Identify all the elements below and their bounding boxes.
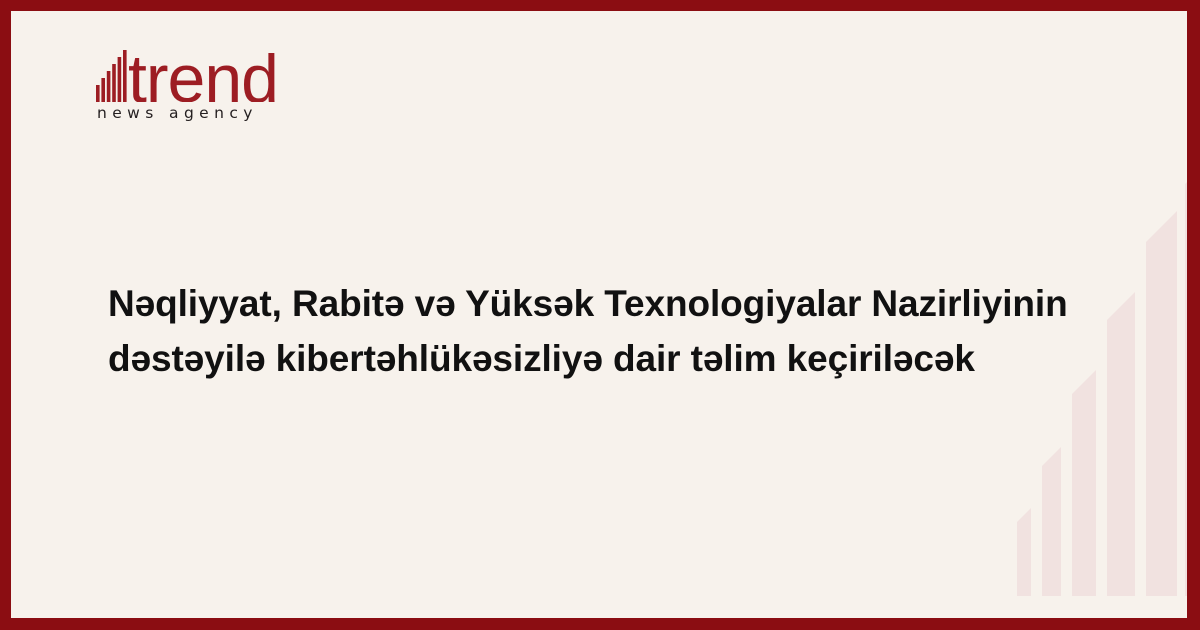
- headline-line-1: Nəqliyyat, Rabitə və Yüksək Texnologiyal…: [108, 277, 1108, 332]
- site-logo[interactable]: trend news agency: [95, 40, 395, 140]
- logo-mark-row: trend: [95, 40, 395, 102]
- bar-ramp-icon: trend: [95, 40, 285, 102]
- social-share-card: trend news agency Nəqliyyat, Rabitə və Y…: [0, 0, 1200, 630]
- logo-tagline: news agency: [97, 104, 395, 122]
- headline: Nəqliyyat, Rabitə və Yüksək Texnologiyal…: [108, 277, 1108, 387]
- card-canvas: trend news agency Nəqliyyat, Rabitə və Y…: [11, 11, 1187, 618]
- headline-line-2: dəstəyilə kibertəhlükəsizliyə dair təlim…: [108, 332, 1108, 387]
- svg-text:trend: trend: [128, 41, 278, 102]
